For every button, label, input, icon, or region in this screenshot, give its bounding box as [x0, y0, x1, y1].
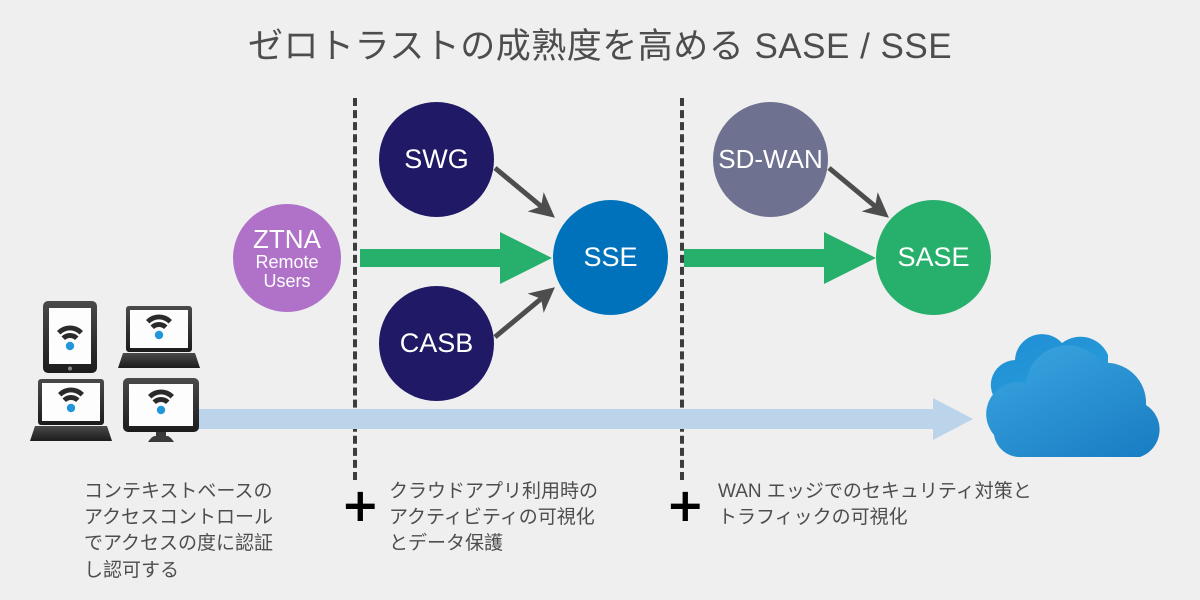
swg-to-sse-arrow [492, 165, 562, 228]
sse-to-sase-arrow [684, 232, 876, 289]
node-ztna-sub-2: Users [263, 272, 310, 291]
ztna-to-sse-arrow [360, 232, 552, 289]
caption-sase: WAN エッジでのセキュリティ対策と トラフィックの可視化 [718, 479, 1118, 531]
node-sdwan[interactable]: SD-WAN [713, 102, 828, 217]
node-sase[interactable]: SASE [876, 200, 991, 315]
node-ztna[interactable]: ZTNA Remote Users [233, 204, 341, 312]
device-monitor [122, 377, 200, 448]
devices-to-cloud-arrow [198, 398, 973, 445]
caption-ztna: コンテキストベースの アクセスコントロール でアクセスの度に認証 し認可する [84, 479, 339, 584]
node-casb[interactable]: CASB [379, 286, 494, 401]
node-ztna-sub-1: Remote [255, 253, 318, 272]
node-ztna-label: ZTNA [253, 225, 321, 253]
device-laptop-1 [118, 305, 200, 375]
cloud-icon [968, 325, 1173, 475]
casb-to-sse-arrow [492, 282, 562, 345]
node-sse[interactable]: SSE [553, 200, 668, 315]
node-swg[interactable]: SWG [379, 102, 494, 217]
node-sase-label: SASE [897, 243, 969, 272]
device-tablet [42, 300, 98, 379]
sdwan-to-sase-arrow [826, 165, 896, 228]
diagram-canvas: ゼロトラストの成熟度を高める SASE / SSE [0, 0, 1200, 600]
node-sse-label: SSE [583, 243, 637, 272]
node-swg-label: SWG [404, 145, 469, 174]
plus-operator-2: + [666, 482, 705, 528]
node-sdwan-label: SD-WAN [718, 145, 822, 173]
caption-sse: クラウドアプリ利用時の アクティビティの可視化 とデータ保護 [389, 479, 664, 558]
page-title: ゼロトラストの成熟度を高める SASE / SSE [0, 18, 1200, 69]
device-laptop-2 [30, 378, 112, 448]
node-casb-label: CASB [400, 329, 474, 358]
plus-operator-1: + [341, 482, 380, 528]
